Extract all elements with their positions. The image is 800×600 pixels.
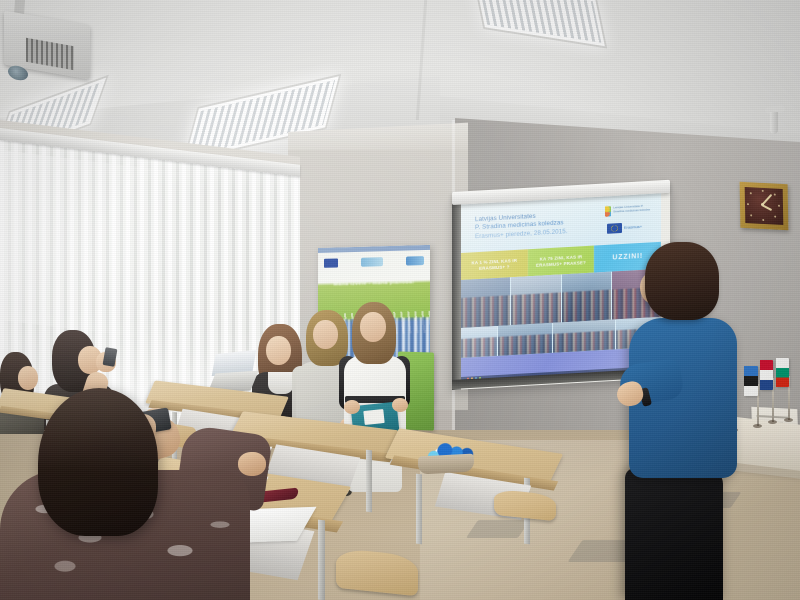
student-white-top-hand-right xyxy=(392,398,408,412)
presenter-hair xyxy=(645,242,719,320)
logo-text: Latvijas Universitate P. Stradina medici… xyxy=(613,205,651,214)
slide-photo xyxy=(511,274,560,325)
eu-flag-icon xyxy=(324,258,338,267)
slide-title-block: Latvijas Universitates P. Stradina medic… xyxy=(475,210,595,242)
eu-flag-icon xyxy=(607,222,622,233)
student-white-top-hand-left xyxy=(344,400,360,414)
estonia-flag xyxy=(744,366,758,396)
student-grey-sweater-face xyxy=(313,320,338,349)
desk-leg xyxy=(366,450,372,513)
slide-photo xyxy=(553,319,616,353)
erasmus-label: Erasmus+ xyxy=(624,224,642,230)
partner-logo-icon xyxy=(361,257,383,267)
slide-photo xyxy=(461,326,497,358)
flag-base xyxy=(784,418,793,422)
slide-photo xyxy=(461,277,510,328)
slide-photo xyxy=(562,272,611,323)
flag-base xyxy=(768,420,777,424)
bulgaria-flag xyxy=(776,358,789,387)
slide-band-2: KA 75 ZINI, KAS IR ERASMUS+ PRAKSE? xyxy=(528,246,595,277)
slide-photo xyxy=(498,323,552,356)
flower-basket xyxy=(418,454,474,475)
photographer-hand-right xyxy=(238,452,266,476)
netherlands-flag xyxy=(760,360,773,390)
banner-logo-row xyxy=(324,253,424,270)
logo-mark-icon xyxy=(605,205,611,216)
student-dark-top-collar xyxy=(268,372,294,394)
photographer-hair xyxy=(38,388,158,536)
clock-center-pin xyxy=(761,203,764,206)
folder-label xyxy=(363,409,384,425)
flag-base xyxy=(753,424,762,428)
desk-leg xyxy=(416,474,422,545)
student-white-top-face xyxy=(360,312,386,342)
partner-logo-icon xyxy=(406,256,424,266)
ceiling-hook-icon xyxy=(770,112,778,134)
screen-left-edge xyxy=(452,199,461,390)
slide-band-1: KA 1 % ZINI, KAS IR ERASMUS+ ? xyxy=(461,249,528,280)
presenter-skirt xyxy=(625,468,723,600)
desk-leg xyxy=(318,520,325,600)
student-dark-top-face xyxy=(266,336,291,365)
college-logo: Latvijas Universitate P. Stradina medici… xyxy=(605,200,651,219)
seated-woman-corner-face xyxy=(18,366,38,390)
banner-slogan: Mana izvele - mana planoba! xyxy=(318,279,430,288)
erasmus-logo: Erasmus+ xyxy=(607,219,651,234)
classroom-photo: Latvijas Universitates P. Stradina medic… xyxy=(0,0,800,600)
